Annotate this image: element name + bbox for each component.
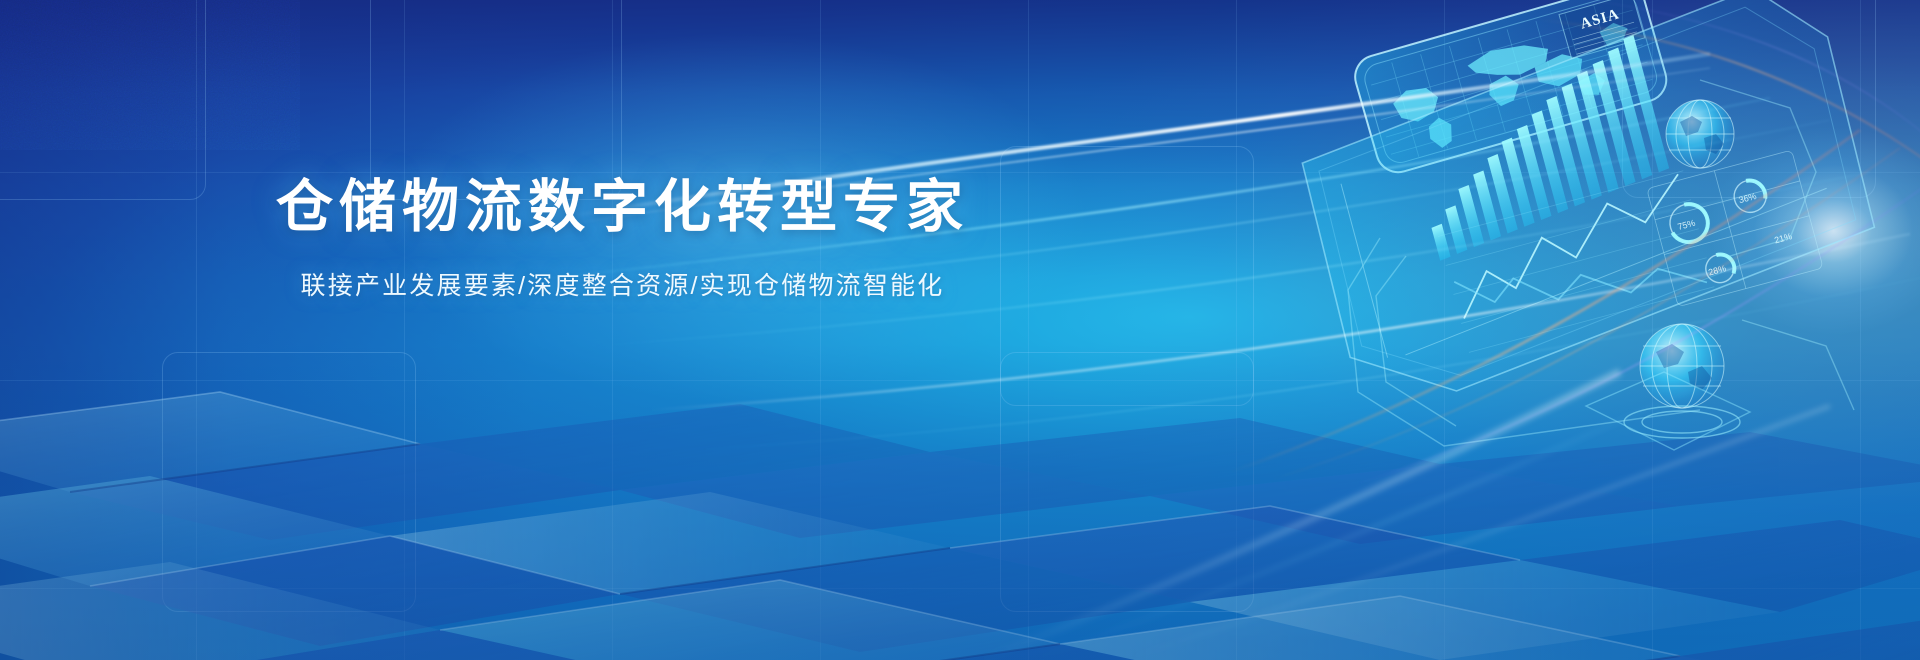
- background-noise: [0, 0, 300, 150]
- globe-bottom: [1586, 324, 1750, 450]
- banner-copy: 仓储物流数字化转型专家 联接产业发展要素/深度整合资源/实现仓储物流智能化: [0, 176, 1245, 302]
- globe-top: [1666, 100, 1734, 168]
- hero-banner: ASIA: [0, 0, 1920, 660]
- banner-subtitle: 联接产业发展要素/深度整合资源/实现仓储物流智能化: [0, 266, 1245, 302]
- page-title: 仓储物流数字化转型专家: [0, 176, 1245, 240]
- hologram-cluster: ASIA: [1230, 0, 1920, 490]
